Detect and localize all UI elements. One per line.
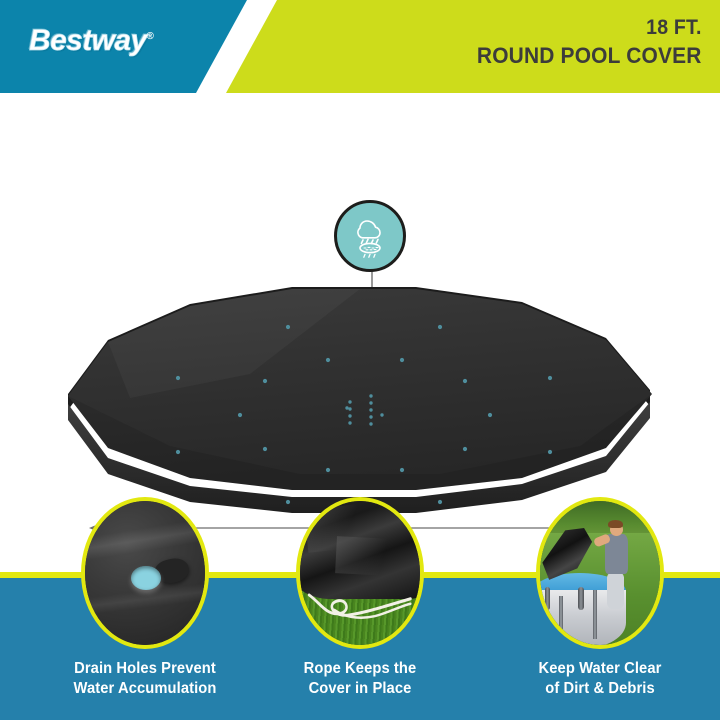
- drain-hole-dot: [131, 566, 161, 590]
- product-size-label: 18 FT.: [477, 17, 702, 38]
- feature-caption-line2: Cover in Place: [246, 679, 474, 699]
- brand-logo: Bestway®: [29, 24, 153, 58]
- feature-caption: Rope Keeps the Cover in Place: [240, 659, 480, 700]
- man-removing-cover-photo: [536, 497, 664, 649]
- product-name-label: ROUND POOL COVER: [477, 45, 702, 68]
- feature-caption-line2: of Dirt & Debris: [486, 679, 714, 699]
- feature-caption-line1: Drain Holes Prevent: [31, 659, 259, 679]
- feature-caption-line1: Rope Keeps the: [246, 659, 474, 679]
- header-banner: Bestway® 18 FT. ROUND POOL COVER: [0, 0, 720, 93]
- feature-drain-holes: Drain Holes Prevent Water Accumulation: [25, 497, 265, 720]
- pool-cover-illustration: [60, 278, 660, 513]
- feature-caption: Drain Holes Prevent Water Accumulation: [25, 659, 265, 700]
- feature-caption: Keep Water Clear of Dirt & Debris: [480, 659, 720, 700]
- feature-caption-line2: Water Accumulation: [31, 679, 259, 699]
- rain-cloud-drain-icon: [334, 200, 406, 272]
- rope-on-grass-photo: [296, 497, 424, 649]
- registered-mark: ®: [147, 31, 154, 42]
- feature-clear-water: Keep Water Clear of Dirt & Debris: [480, 497, 720, 720]
- brand-logo-text: Bestway: [29, 24, 147, 57]
- feature-rope: Rope Keeps the Cover in Place: [240, 497, 480, 720]
- product-title-block: 18 FT. ROUND POOL COVER: [460, 17, 702, 68]
- drain-hole-photo: [81, 497, 209, 649]
- feature-caption-line1: Keep Water Clear: [486, 659, 714, 679]
